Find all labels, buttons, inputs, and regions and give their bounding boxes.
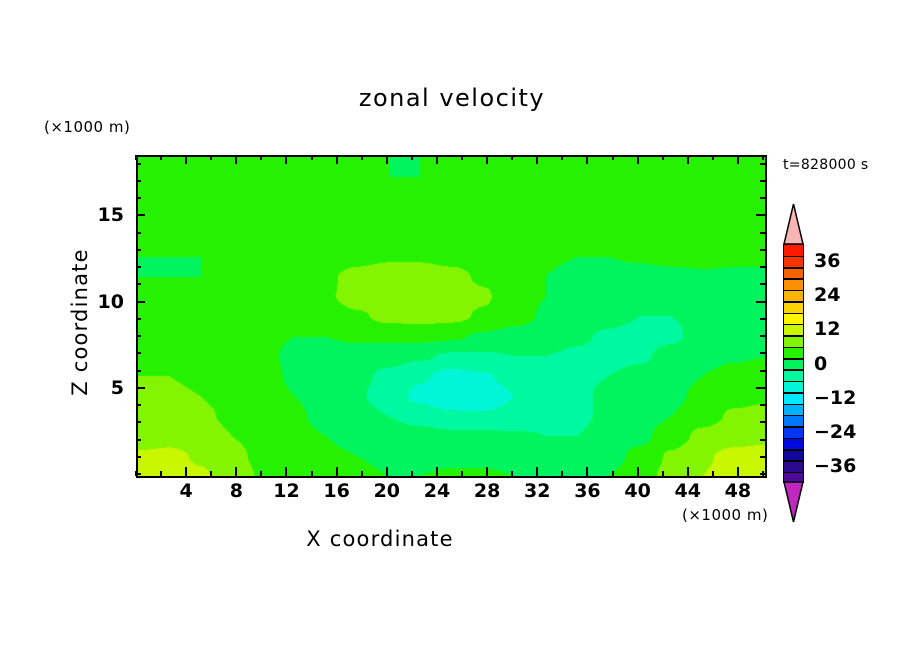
y-minor-tick <box>136 352 141 354</box>
x-minor-tick-top <box>135 155 137 160</box>
y-minor-tick-right <box>760 283 765 285</box>
y-minor-tick-right <box>760 232 765 234</box>
colorbar-band-separator <box>784 426 803 428</box>
time-annotation: t=828000 s <box>783 157 868 173</box>
colorbar-band-separator <box>784 278 803 280</box>
x-tick-label: 24 <box>424 480 450 502</box>
x-major-tick-top <box>586 155 588 164</box>
colorbar-band-separator <box>784 392 803 394</box>
x-minor-tick <box>210 471 212 476</box>
plot-area <box>136 155 767 478</box>
x-axis-label: X coordinate <box>0 527 760 551</box>
x-major-tick-top <box>436 155 438 164</box>
colorbar-band-separator <box>784 369 803 371</box>
colorbar-tick-label: 24 <box>814 284 840 306</box>
y-major-tick <box>136 301 145 303</box>
x-major-tick <box>436 467 438 476</box>
y-minor-tick <box>136 249 141 251</box>
x-minor-tick <box>712 471 714 476</box>
y-minor-tick-right <box>760 370 765 372</box>
x-major-tick <box>687 467 689 476</box>
x-major-tick <box>586 467 588 476</box>
colorbar-tick-label: 0 <box>814 353 827 375</box>
colorbar-band-separator <box>784 256 803 258</box>
x-tick-label: 8 <box>230 480 243 502</box>
colorbar-band-separator <box>784 460 803 462</box>
x-tick-label: 28 <box>474 480 500 502</box>
colorbar-band-separator <box>784 313 803 315</box>
x-major-tick <box>185 467 187 476</box>
x-major-tick-top <box>185 155 187 164</box>
y-minor-tick <box>136 163 141 165</box>
y-minor-tick <box>136 318 141 320</box>
y-axis-units-label: (×1000 m) <box>44 118 130 136</box>
x-minor-tick <box>612 471 614 476</box>
x-tick-label: 4 <box>180 480 193 502</box>
figure-canvas: zonal velocity (×1000 m) t=828000 s 4812… <box>0 0 904 654</box>
y-minor-tick <box>136 266 141 268</box>
x-minor-tick <box>411 471 413 476</box>
x-minor-tick-top <box>612 155 614 160</box>
colorbar-band-separator <box>784 438 803 440</box>
colorbar-bands <box>783 244 804 483</box>
x-major-tick-top <box>336 155 338 164</box>
x-major-tick-top <box>486 155 488 164</box>
y-minor-tick <box>136 335 141 337</box>
colorbar-tick-label: 12 <box>814 318 840 340</box>
y-minor-tick-right <box>760 266 765 268</box>
x-tick-label: 40 <box>624 480 650 502</box>
x-major-tick <box>386 467 388 476</box>
colorbar-band-separator <box>784 335 803 337</box>
x-minor-tick <box>561 471 563 476</box>
x-major-tick <box>336 467 338 476</box>
y-axis-label: Z coordinate <box>68 212 92 432</box>
x-minor-tick <box>160 471 162 476</box>
x-minor-tick <box>662 471 664 476</box>
x-tick-label: 12 <box>273 480 299 502</box>
colorbar <box>783 203 804 523</box>
x-minor-tick-top <box>511 155 513 160</box>
y-minor-tick <box>136 232 141 234</box>
y-minor-tick-right <box>760 163 765 165</box>
colorbar-overflow-bottom-arrow <box>783 481 804 523</box>
colorbar-band-separator <box>784 301 803 303</box>
colorbar-tick-label: −36 <box>814 455 856 477</box>
x-major-tick <box>536 467 538 476</box>
y-minor-tick <box>136 439 141 441</box>
y-minor-tick-right <box>760 473 765 475</box>
x-minor-tick-top <box>260 155 262 160</box>
colorbar-overflow-top-arrow <box>783 203 804 245</box>
x-minor-tick <box>311 471 313 476</box>
y-minor-tick-right <box>760 335 765 337</box>
y-minor-tick <box>136 283 141 285</box>
x-minor-tick <box>461 471 463 476</box>
colorbar-band-separator <box>784 415 803 417</box>
colorbar-band-separator <box>784 290 803 292</box>
y-minor-tick-right <box>760 249 765 251</box>
x-minor-tick-top <box>160 155 162 160</box>
x-minor-tick-top <box>311 155 313 160</box>
y-minor-tick-right <box>760 404 765 406</box>
x-minor-tick-top <box>461 155 463 160</box>
x-minor-tick-top <box>210 155 212 160</box>
colorbar-band-separator <box>784 381 803 383</box>
x-major-tick-top <box>637 155 639 164</box>
colorbar-band-separator <box>784 347 803 349</box>
x-major-tick-top <box>235 155 237 164</box>
y-major-tick-right <box>756 387 765 389</box>
y-minor-tick <box>136 421 141 423</box>
x-tick-label: 48 <box>725 480 751 502</box>
x-major-tick <box>486 467 488 476</box>
y-minor-tick-right <box>760 439 765 441</box>
x-minor-tick-top <box>762 155 764 160</box>
y-minor-tick <box>136 180 141 182</box>
colorbar-band-separator <box>784 324 803 326</box>
x-tick-label: 20 <box>374 480 400 502</box>
colorbar-tick-label: −12 <box>814 387 856 409</box>
y-minor-tick <box>136 404 141 406</box>
y-major-tick-right <box>756 301 765 303</box>
x-minor-tick <box>511 471 513 476</box>
colorbar-band-separator <box>784 358 803 360</box>
x-major-tick-top <box>536 155 538 164</box>
y-major-tick <box>136 214 145 216</box>
x-major-tick <box>235 467 237 476</box>
y-minor-tick-right <box>760 318 765 320</box>
page-title: zonal velocity <box>0 84 904 112</box>
x-major-tick <box>737 467 739 476</box>
x-minor-tick <box>361 471 363 476</box>
x-major-tick <box>285 467 287 476</box>
x-major-tick-top <box>386 155 388 164</box>
y-minor-tick <box>136 197 141 199</box>
colorbar-tick-label: −24 <box>814 421 856 443</box>
colorbar-band-separator <box>784 404 803 406</box>
x-major-tick-top <box>285 155 287 164</box>
y-minor-tick <box>136 456 141 458</box>
y-minor-tick-right <box>760 421 765 423</box>
x-tick-label: 36 <box>574 480 600 502</box>
colorbar-band-separator <box>784 449 803 451</box>
contour-field <box>138 157 765 476</box>
x-minor-tick-top <box>361 155 363 160</box>
y-minor-tick <box>136 370 141 372</box>
x-major-tick <box>637 467 639 476</box>
colorbar-band-separator <box>784 267 803 269</box>
x-major-tick-top <box>687 155 689 164</box>
x-minor-tick-top <box>561 155 563 160</box>
colorbar-tick-label: 36 <box>814 250 840 272</box>
y-minor-tick-right <box>760 456 765 458</box>
x-tick-label: 32 <box>524 480 550 502</box>
y-major-tick-right <box>756 214 765 216</box>
x-minor-tick-top <box>712 155 714 160</box>
y-minor-tick-right <box>760 352 765 354</box>
x-tick-label: 16 <box>323 480 349 502</box>
x-axis-units-label: (×1000 m) <box>682 506 768 524</box>
y-minor-tick-right <box>760 197 765 199</box>
y-major-tick <box>136 387 145 389</box>
x-minor-tick-top <box>411 155 413 160</box>
x-tick-label: 44 <box>675 480 701 502</box>
x-minor-tick-top <box>662 155 664 160</box>
colorbar-band-separator <box>784 472 803 474</box>
x-major-tick-top <box>737 155 739 164</box>
y-minor-tick <box>136 473 141 475</box>
x-minor-tick <box>260 471 262 476</box>
y-minor-tick-right <box>760 180 765 182</box>
